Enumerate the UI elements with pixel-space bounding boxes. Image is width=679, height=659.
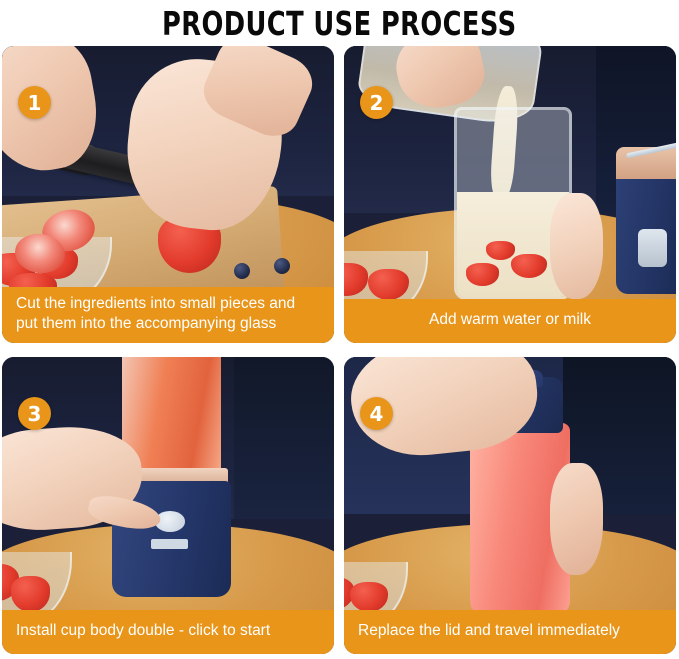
background-wall-right xyxy=(234,357,334,519)
step-caption-3-text: Install cup body double - click to start xyxy=(16,621,270,641)
holding-hand xyxy=(550,193,603,299)
step-panel-4: 4 Replace the lid and travel immediately xyxy=(344,357,676,654)
glass-bowl xyxy=(344,562,408,610)
caption-line-2: put them into the accompanying glass xyxy=(16,314,295,334)
blender-rim xyxy=(616,147,676,179)
step-panel-2: 2 Add warm water or milk xyxy=(344,46,676,343)
strawberry-piece xyxy=(486,241,515,260)
scene-press-start-button xyxy=(2,357,334,610)
blender-power-button xyxy=(638,229,667,267)
step-caption-4: Replace the lid and travel immediately xyxy=(344,610,676,654)
step-caption-1-text: Cut the ingredients into small pieces an… xyxy=(16,294,295,334)
step-caption-2: Add warm water or milk xyxy=(344,299,676,343)
scene-cutting-strawberries xyxy=(2,46,334,287)
step-panel-1: 1 Cut the ingredients into small pieces … xyxy=(2,46,334,343)
product-use-process-infographic: PRODUCT USE PROCESS xyxy=(0,0,679,659)
step-photo-4: 4 xyxy=(344,357,676,610)
scene-replace-lid xyxy=(344,357,676,610)
strawberry xyxy=(368,269,408,299)
strawberry xyxy=(11,576,51,610)
blender-base xyxy=(616,147,676,294)
strawberry xyxy=(9,273,57,287)
page-title: PRODUCT USE PROCESS xyxy=(162,4,517,43)
step-badge-4: 4 xyxy=(360,397,393,430)
glass-bowl xyxy=(344,251,428,299)
title-bar: PRODUCT USE PROCESS xyxy=(0,0,679,46)
steps-grid: 1 Cut the ingredients into small pieces … xyxy=(0,46,679,654)
hand-holding-bottle xyxy=(550,463,603,574)
strawberry xyxy=(350,582,388,610)
step-badge-3: 3 xyxy=(18,397,51,430)
strawberry xyxy=(344,263,368,296)
step-caption-4-text: Replace the lid and travel immediately xyxy=(358,621,620,641)
step-photo-2: 2 xyxy=(344,46,676,299)
scene-pouring-milk xyxy=(344,46,676,299)
step-caption-2-text: Add warm water or milk xyxy=(429,310,591,330)
usb-port xyxy=(151,539,188,549)
step-badge-2: 2 xyxy=(360,86,393,119)
step-panel-3: 3 Install cup body double - click to sta… xyxy=(2,357,334,654)
caption-line-1: Cut the ingredients into small pieces an… xyxy=(16,294,295,314)
step-photo-3: 3 xyxy=(2,357,334,610)
step-photo-1: 1 xyxy=(2,46,334,287)
step-caption-1: Cut the ingredients into small pieces an… xyxy=(2,287,334,343)
step-caption-3: Install cup body double - click to start xyxy=(2,610,334,654)
step-badge-1: 1 xyxy=(18,86,51,119)
